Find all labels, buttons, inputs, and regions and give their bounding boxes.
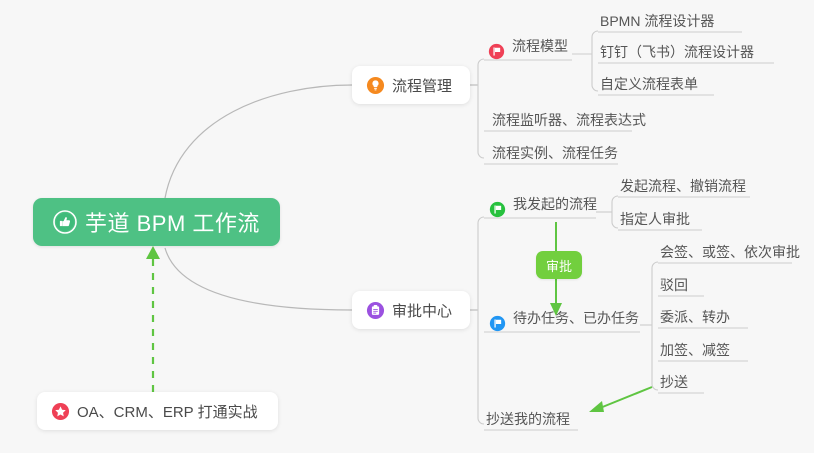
root-node-label: 芋道 BPM 工作流 xyxy=(85,206,260,238)
label-start-cancel: 发起流程、撤销流程 xyxy=(620,179,746,197)
label-cc-to-me: 抄送我的流程 xyxy=(486,412,570,430)
label-assignee-approval: 指定人审批 xyxy=(620,212,690,230)
label-instance-task: 流程实例、流程任务 xyxy=(492,146,618,164)
node-start-cancel[interactable]: 发起流程、撤销流程 xyxy=(618,171,752,197)
label-reject: 驳回 xyxy=(660,278,688,296)
footnote-label: OA、CRM、ERP 打通实战 xyxy=(77,401,258,422)
node-cc[interactable]: 抄送 xyxy=(658,367,694,393)
node-reject[interactable]: 驳回 xyxy=(658,270,694,296)
label-custom-process-form: 自定义流程表单 xyxy=(600,77,698,95)
branch-label-approval-center: 审批中心 xyxy=(392,300,452,321)
bracket-approval-center xyxy=(478,217,484,424)
label-add-remove-sign: 加签、减签 xyxy=(660,343,730,361)
approval-tag-label: 审批 xyxy=(546,256,572,275)
root-node[interactable]: 芋道 BPM 工作流 xyxy=(33,198,280,246)
branch-node-process-management[interactable]: 流程管理 xyxy=(352,66,470,104)
label-listener-expression: 流程监听器、流程表达式 xyxy=(492,113,646,131)
node-instance-task[interactable]: 流程实例、流程任务 xyxy=(490,138,624,164)
node-todo-done-tasks[interactable]: 待办任务、已办任务 xyxy=(489,306,643,332)
clipboard-icon xyxy=(366,301,385,320)
node-dingtalk-feishu-designer[interactable]: 钉钉（飞书）流程设计器 xyxy=(598,37,760,63)
node-my-initiated[interactable]: 我发起的流程 xyxy=(489,192,601,218)
node-add-remove-sign[interactable]: 加签、减签 xyxy=(658,335,736,361)
branch-label-process-management: 流程管理 xyxy=(392,75,452,96)
label-dingtalk-feishu-designer: 钉钉（飞书）流程设计器 xyxy=(600,45,754,63)
edge-root-to-process-management xyxy=(165,85,352,198)
flag-blue-icon xyxy=(489,315,506,332)
arrow-cc-head xyxy=(589,401,604,412)
thumbs-up-icon xyxy=(53,210,77,234)
node-assignee-approval[interactable]: 指定人审批 xyxy=(618,204,696,230)
arrow-footnote-head xyxy=(146,246,160,259)
label-countersign: 会签、或签、依次审批 xyxy=(660,245,800,263)
label-todo-done-tasks: 待办任务、已办任务 xyxy=(513,308,639,332)
footnote-node[interactable]: OA、CRM、ERP 打通实战 xyxy=(37,392,278,430)
node-countersign[interactable]: 会签、或签、依次审批 xyxy=(658,237,806,263)
label-process-model: 流程模型 xyxy=(512,36,568,60)
node-bpmn-designer[interactable]: BPMN 流程设计器 xyxy=(598,6,720,32)
label-delegate-transfer: 委派、转办 xyxy=(660,310,730,328)
flag-red-icon xyxy=(488,43,505,60)
arrow-cc-line xyxy=(600,387,652,408)
approval-tag[interactable]: 审批 xyxy=(536,251,582,279)
edge-root-to-approval-center xyxy=(165,248,352,310)
flag-green-icon xyxy=(489,201,506,218)
node-process-model[interactable]: 流程模型 xyxy=(488,34,572,60)
node-cc-to-me[interactable]: 抄送我的流程 xyxy=(484,404,576,430)
label-cc: 抄送 xyxy=(660,375,688,393)
node-listener-expression[interactable]: 流程监听器、流程表达式 xyxy=(490,105,652,131)
node-delegate-transfer[interactable]: 委派、转办 xyxy=(658,302,736,328)
branch-node-approval-center[interactable]: 审批中心 xyxy=(352,291,470,329)
lightbulb-icon xyxy=(366,76,385,95)
node-custom-process-form[interactable]: 自定义流程表单 xyxy=(598,69,704,95)
bracket-process-management xyxy=(478,59,484,158)
star-icon xyxy=(51,402,70,421)
label-my-initiated: 我发起的流程 xyxy=(513,194,597,218)
label-bpmn-designer: BPMN 流程设计器 xyxy=(600,14,714,32)
mindmap-canvas: 芋道 BPM 工作流 流程管理 流程模型 BPMN 流程设计器 钉钉（飞书）流程 xyxy=(0,0,814,453)
